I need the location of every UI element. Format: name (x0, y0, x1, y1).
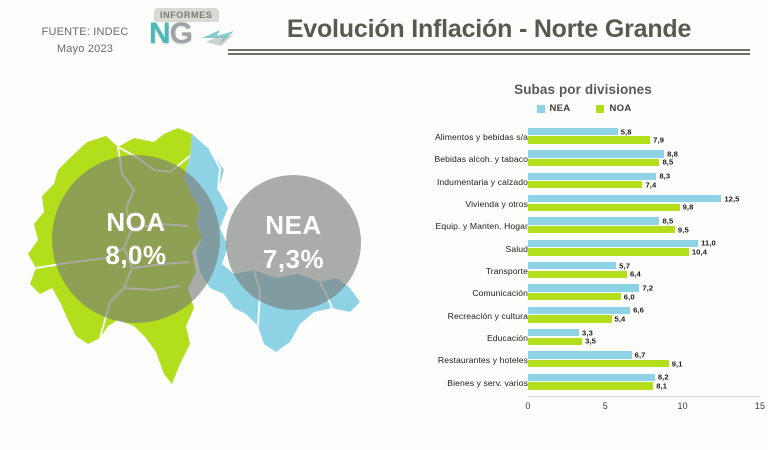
chart-bar-nea[interactable]: 8,2 (528, 374, 655, 381)
bar-chart: Subas por divisiones NEA NOA Alimentos y… (392, 82, 760, 422)
source-note: FUENTE: INDEC Mayo 2023 (26, 24, 144, 58)
infographic-page: FUENTE: INDEC Mayo 2023 INFORMES NG Evol… (0, 0, 768, 450)
chart-category-label: Vivienda y otros (378, 195, 528, 213)
chart-bar-group: 8,88,5 (528, 150, 760, 168)
chart-bar-noa[interactable]: 9,8 (528, 204, 680, 211)
chart-bar-nea[interactable]: 5,8 (528, 128, 618, 135)
chart-row: Vivienda y otros12,59,8 (392, 193, 760, 215)
chart-bar-noa[interactable]: 3,5 (528, 338, 582, 345)
chart-category-label: Bienes y serv. varios (378, 374, 528, 392)
page-title-block: Evolución Inflación - Norte Grande (228, 14, 750, 55)
chart-bar-group: 6,65,4 (528, 307, 760, 325)
chart-bar-noa[interactable]: 5,4 (528, 315, 612, 322)
chart-bar-noa[interactable]: 6,4 (528, 271, 627, 278)
chart-bar-nea[interactable]: 8,5 (528, 217, 659, 224)
legend-label-nea: NEA (550, 103, 571, 114)
chart-bar-value: 7,2 (642, 284, 653, 293)
chart-title: Subas por divisiones (406, 82, 760, 97)
logo-ng-text: NG (149, 19, 192, 49)
page-title: Evolución Inflación - Norte Grande (228, 14, 750, 44)
bubble-nea-value: 7,3% (263, 245, 324, 274)
x-axis-tick: 5 (603, 401, 608, 411)
chart-bar-value: 8,1 (656, 381, 667, 390)
chart-bar-value: 10,4 (692, 247, 707, 256)
chart-bar-nea[interactable]: 3,3 (528, 329, 579, 336)
chart-row: Bienes y serv. varios8,28,1 (392, 372, 760, 394)
chart-bar-value: 6,0 (624, 292, 635, 301)
chart-bar-value: 8,5 (662, 217, 673, 226)
chart-bar-noa[interactable]: 9,1 (528, 360, 669, 367)
chart-bar-nea[interactable]: 8,3 (528, 173, 656, 180)
chart-bar-value: 7,9 (653, 136, 664, 145)
source-line-1: FUENTE: INDEC (26, 24, 144, 41)
legend-label-noa: NOA (609, 103, 631, 114)
chart-bar-group: 12,59,8 (528, 195, 760, 213)
region-map: NOA 8,0% NEA 7,3% (14, 112, 386, 412)
x-axis-tick: 10 (677, 401, 687, 411)
chart-bar-noa[interactable]: 10,4 (528, 248, 689, 255)
chart-bar-nea[interactable]: 8,8 (528, 150, 664, 157)
legend-item-noa[interactable]: NOA (596, 103, 631, 114)
chart-row: Recreación y cultura6,65,4 (392, 305, 760, 327)
x-axis-tick: 15 (755, 401, 765, 411)
chart-bar-value: 8,3 (659, 172, 670, 181)
x-axis-tick: 0 (525, 401, 530, 411)
chart-category-label: Restaurantes y hoteles (378, 351, 528, 369)
logo-letter-g: G (170, 17, 192, 50)
chart-row: Comunicación7,26,0 (392, 282, 760, 304)
map-bubble-nea: NEA 7,3% (226, 175, 361, 310)
chart-bar-value: 6,7 (635, 351, 646, 360)
chart-category-label: Comunicación (378, 284, 528, 302)
map-bubble-noa: NOA 8,0% (52, 155, 220, 323)
source-line-2: Mayo 2023 (26, 41, 144, 58)
chart-category-label: Indumentaria y calzado (378, 173, 528, 191)
chart-bar-group: 7,26,0 (528, 284, 760, 302)
chart-category-label: Educación (378, 329, 528, 347)
chart-bar-noa[interactable]: 6,0 (528, 293, 621, 300)
chart-plot-area: Alimentos y bebidas s/a5,87,9Bebidas alc… (392, 126, 760, 422)
chart-bar-nea[interactable]: 6,6 (528, 307, 630, 314)
chart-bar-value: 9,1 (672, 359, 683, 368)
chart-category-label: Bebidas alcoh. y tabaco (378, 150, 528, 168)
chart-bar-value: 6,6 (633, 306, 644, 315)
chart-row: Alimentos y bebidas s/a5,87,9 (392, 126, 760, 148)
chart-bar-group: 8,59,5 (528, 217, 760, 235)
legend-item-nea[interactable]: NEA (537, 103, 571, 114)
chart-bar-nea[interactable]: 5,7 (528, 262, 616, 269)
chart-category-label: Salud (378, 240, 528, 258)
chart-bar-value: 9,5 (678, 225, 689, 234)
chart-bar-group: 5,87,9 (528, 128, 760, 146)
chart-category-label: Equip. y Manten. Hogar (378, 217, 528, 235)
chart-bar-group: 8,28,1 (528, 374, 760, 392)
chart-bar-noa[interactable]: 9,5 (528, 226, 675, 233)
legend-swatch-noa (596, 105, 604, 113)
chart-bar-nea[interactable]: 7,2 (528, 284, 639, 291)
chart-row: Equip. y Manten. Hogar8,59,5 (392, 215, 760, 237)
chart-bar-group: 11,010,4 (528, 240, 760, 258)
chart-bar-noa[interactable]: 7,4 (528, 181, 642, 188)
chart-bar-value: 6,4 (630, 270, 641, 279)
chart-row: Educación3,33,5 (392, 327, 760, 349)
chart-bar-nea[interactable]: 6,7 (528, 351, 632, 358)
chart-row: Salud11,010,4 (392, 238, 760, 260)
chart-bar-value: 12,5 (724, 194, 739, 203)
title-divider (228, 49, 750, 55)
chart-bar-nea[interactable]: 11,0 (528, 240, 698, 247)
bubble-noa-label: NOA (106, 208, 165, 237)
chart-bar-value: 7,4 (645, 180, 656, 189)
chart-category-label: Recreación y cultura (378, 307, 528, 325)
chart-bar-value: 5,8 (621, 127, 632, 136)
chart-bar-noa[interactable]: 8,1 (528, 382, 653, 389)
chart-bar-value: 8,5 (662, 158, 673, 167)
chart-category-label: Transporte (378, 262, 528, 280)
chart-bar-value: 3,5 (585, 337, 596, 346)
bubble-noa-value: 8,0% (105, 241, 166, 270)
chart-bar-value: 5,4 (615, 314, 626, 323)
bubble-nea-label: NEA (265, 211, 321, 240)
chart-bar-group: 6,79,1 (528, 351, 760, 369)
chart-row: Indumentaria y calzado8,37,4 (392, 171, 760, 193)
chart-row: Bebidas alcoh. y tabaco8,88,5 (392, 148, 760, 170)
legend-swatch-nea (537, 105, 545, 113)
chart-rows: Alimentos y bebidas s/a5,87,9Bebidas alc… (392, 126, 760, 394)
chart-x-axis: 051015 (528, 396, 760, 418)
chart-legend: NEA NOA (408, 103, 760, 114)
chart-bar-noa[interactable]: 8,5 (528, 159, 659, 166)
logo-letter-n: N (149, 17, 170, 50)
chart-row: Transporte5,76,4 (392, 260, 760, 282)
chart-category-label: Alimentos y bebidas s/a (378, 128, 528, 146)
chart-bar-value: 9,8 (683, 203, 694, 212)
chart-bar-group: 3,33,5 (528, 329, 760, 347)
chart-bar-group: 5,76,4 (528, 262, 760, 280)
chart-bar-noa[interactable]: 7,9 (528, 136, 650, 143)
chart-row: Restaurantes y hoteles6,79,1 (392, 349, 760, 371)
chart-bar-value: 5,7 (619, 261, 630, 270)
informes-ng-logo: INFORMES NG (146, 6, 238, 58)
chart-bar-group: 8,37,4 (528, 173, 760, 191)
x-axis-line (528, 396, 760, 397)
chart-bar-nea[interactable]: 12,5 (528, 195, 721, 202)
